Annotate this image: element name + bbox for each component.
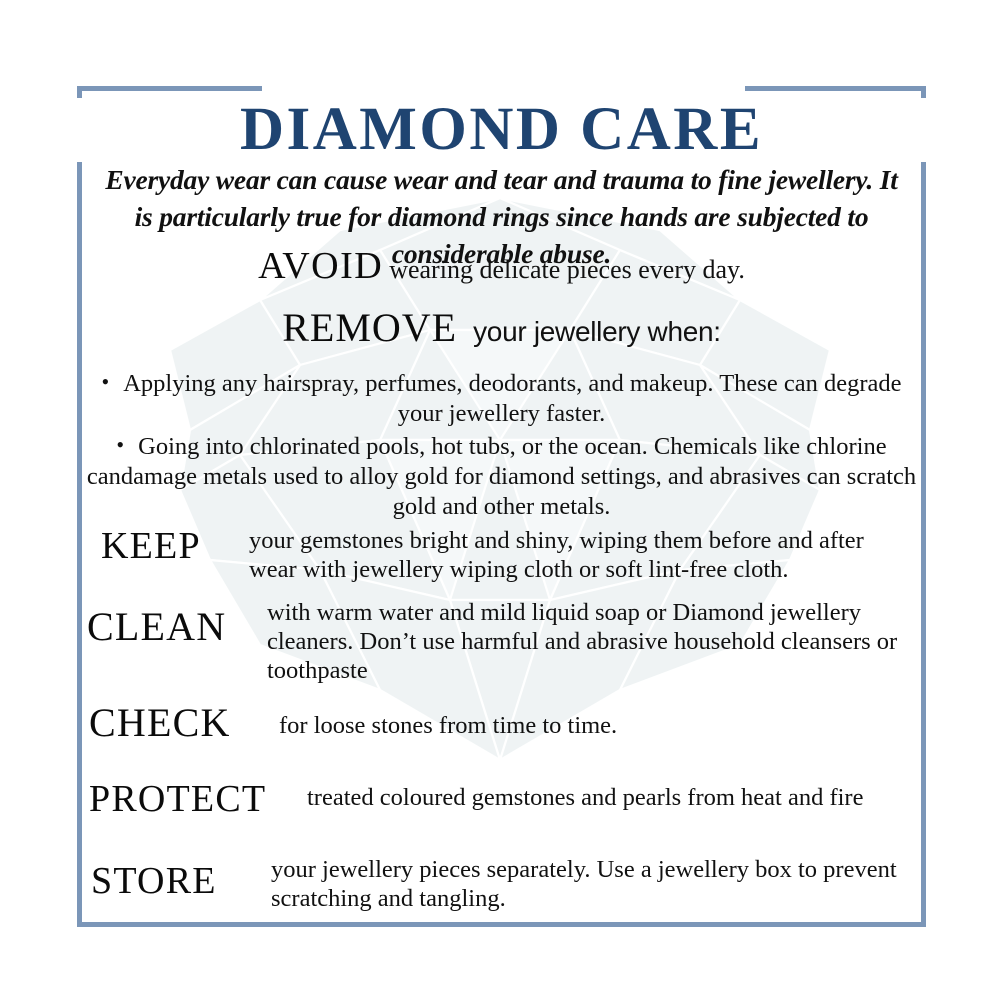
- remove-keyword: REMOVE: [282, 305, 457, 350]
- avoid-text: wearing delicate pieces every day.: [389, 255, 745, 284]
- bullet-dot-icon: •: [116, 430, 124, 460]
- avoid-row: AVOIDwearing delicate pieces every day.: [77, 244, 926, 288]
- list-item: •Applying any hairspray, perfumes, deodo…: [77, 367, 926, 429]
- section-keep: KEEP your gemstones bright and shiny, wi…: [101, 518, 911, 584]
- diamond-care-poster: DIAMOND CARE Everyday wear can cause wea…: [0, 0, 1000, 1000]
- remove-row: REMOVEyour jewellery when:: [77, 304, 926, 351]
- bullet-dot-icon: •: [102, 367, 110, 397]
- bullet-text: Applying any hairspray, perfumes, deodor…: [123, 370, 901, 427]
- avoid-keyword: AVOID: [258, 245, 383, 287]
- clean-keyword: CLEAN: [87, 595, 267, 650]
- list-item: •Going into chlorinated pools, hot tubs,…: [77, 430, 926, 522]
- check-text: for loose stones from time to time.: [279, 697, 909, 740]
- section-clean: CLEAN with warm water and mild liquid so…: [87, 595, 917, 685]
- page-title: DIAMOND CARE: [77, 98, 926, 162]
- section-protect: PROTECT treated coloured gemstones and p…: [89, 773, 909, 821]
- section-check: CHECK for loose stones from time to time…: [89, 697, 909, 746]
- keep-text: your gemstones bright and shiny, wiping …: [249, 518, 911, 584]
- remove-text: your jewellery when:: [473, 316, 721, 347]
- section-store: STORE your jewellery pieces separately. …: [91, 851, 911, 913]
- bullet-text: Going into chlorinated pools, hot tubs, …: [87, 433, 916, 520]
- store-text: your jewellery pieces separately. Use a …: [271, 851, 911, 913]
- poster-content: DIAMOND CARE Everyday wear can cause wea…: [77, 86, 926, 927]
- protect-text: treated coloured gemstones and pearls fr…: [307, 773, 909, 812]
- protect-keyword: PROTECT: [89, 773, 307, 821]
- keep-keyword: KEEP: [101, 518, 249, 568]
- store-keyword: STORE: [91, 851, 271, 903]
- check-keyword: CHECK: [89, 697, 279, 746]
- clean-text: with warm water and mild liquid soap or …: [267, 595, 917, 685]
